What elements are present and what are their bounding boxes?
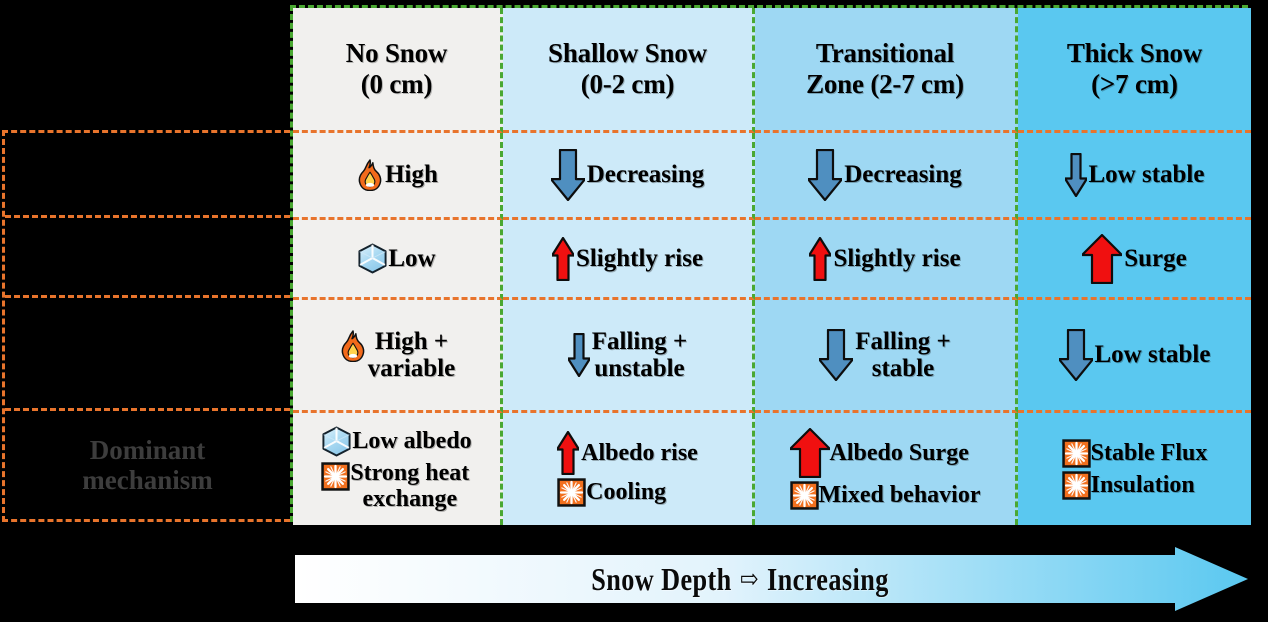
cell-text: Low <box>388 245 435 273</box>
row-label-1 <box>5 218 290 298</box>
cell-text: Slightly rise <box>576 245 703 273</box>
column-range: (>7 cm) <box>1091 69 1178 99</box>
cell-text: Cooling <box>586 479 666 505</box>
table-cell: Low stable <box>1018 133 1251 220</box>
table-cell: Decreasing <box>755 133 1018 220</box>
table-cell: High + variable <box>293 300 503 413</box>
cell-text: Low stable <box>1089 161 1205 189</box>
table-cell: Albedo rise Cooling <box>503 413 755 525</box>
up-arrow-icon <box>552 237 574 281</box>
sparkle-icon <box>790 481 819 510</box>
fire-icon <box>355 159 385 191</box>
table-cell: Falling + unstable <box>503 300 755 413</box>
table-cell: Low albedo Strong heat exchange <box>293 413 503 525</box>
cell-text: High <box>385 161 438 189</box>
cell-text: Mixed behavior <box>819 482 981 508</box>
column-title: Thick Snow <box>1067 38 1202 68</box>
column-header-transitional-zone: Transitional Zone (2-7 cm) <box>755 8 1018 133</box>
table-cell: Surge <box>1018 220 1251 300</box>
comparison-matrix: No Snow (0 cm) Shallow Snow (0-2 cm) Tra… <box>290 5 1248 522</box>
table-cell: High <box>293 133 503 220</box>
column-range: Zone (2-7 cm) <box>806 69 964 99</box>
ice-cube-icon <box>357 243 388 274</box>
sparkle-icon <box>321 462 350 491</box>
table-cell: Low stable <box>1018 300 1251 413</box>
up-arrow-icon <box>1082 234 1122 284</box>
cell-text: Stable Flux <box>1091 440 1208 466</box>
cell-text: Surge <box>1124 245 1187 273</box>
cell-text: Albedo rise <box>581 440 698 466</box>
cell-text: Decreasing <box>844 161 962 189</box>
row-label-column: Dominant mechanism <box>2 130 290 522</box>
table-cell: Albedo Surge Mixed behavior <box>755 413 1018 525</box>
cell-text: Falling + stable <box>855 328 951 383</box>
sparkle-icon <box>557 478 586 507</box>
row-label-3: Dominant mechanism <box>5 411 290 519</box>
column-header-no-snow: No Snow (0 cm) <box>293 8 503 133</box>
ice-cube-icon <box>321 426 352 457</box>
cell-text: High + variable <box>368 328 456 383</box>
up-arrow-icon <box>809 237 831 281</box>
column-header-shallow-snow: Shallow Snow (0-2 cm) <box>503 8 755 133</box>
cell-text: Strong heat exchange <box>350 460 469 513</box>
table-cell: Slightly rise <box>755 220 1018 300</box>
banner-trend-text: Increasing <box>767 561 889 598</box>
sparkle-icon <box>1062 471 1091 500</box>
table-cell: Decreasing <box>503 133 755 220</box>
sparkle-icon <box>1062 439 1091 468</box>
cell-text: Decreasing <box>587 161 705 189</box>
down-arrow-icon <box>1065 153 1087 197</box>
column-header-thick-snow: Thick Snow (>7 cm) <box>1018 8 1251 133</box>
right-arrow-glyph-icon: ⇨ <box>732 564 767 595</box>
down-arrow-icon <box>819 329 853 381</box>
cell-text: Low albedo <box>352 428 471 454</box>
cell-text: Albedo Surge <box>830 440 969 466</box>
row-label-0 <box>5 133 290 218</box>
column-title: No Snow <box>346 38 447 68</box>
cell-text: Low stable <box>1095 341 1211 369</box>
up-arrow-icon <box>557 431 579 475</box>
table-cell: Stable Flux Insulation <box>1018 413 1251 525</box>
row-label-2 <box>5 298 290 411</box>
banner-text: Snow Depth ⇨ Increasing <box>375 547 1105 611</box>
column-range: (0 cm) <box>361 69 433 99</box>
up-arrow-icon <box>790 428 830 478</box>
table-cell: Falling + stable <box>755 300 1018 413</box>
table-cell: Low <box>293 220 503 300</box>
down-arrow-icon <box>1059 329 1093 381</box>
banner-label-text: Snow Depth <box>591 561 731 598</box>
cell-text: Insulation <box>1091 472 1195 498</box>
figure-root: Dominant mechanism No Snow (0 cm) Shallo… <box>0 0 1268 622</box>
cell-text: Falling + unstable <box>592 328 688 383</box>
column-title: Transitional <box>816 38 954 68</box>
column-title: Shallow Snow <box>548 38 707 68</box>
column-range: (0-2 cm) <box>581 69 675 99</box>
down-arrow-icon <box>568 333 590 377</box>
fire-icon <box>338 330 368 362</box>
down-arrow-icon <box>551 149 585 201</box>
down-arrow-icon <box>808 149 842 201</box>
table-cell: Slightly rise <box>503 220 755 300</box>
snow-depth-banner: Snow Depth ⇨ Increasing <box>295 547 1248 611</box>
cell-text: Slightly rise <box>833 245 960 273</box>
